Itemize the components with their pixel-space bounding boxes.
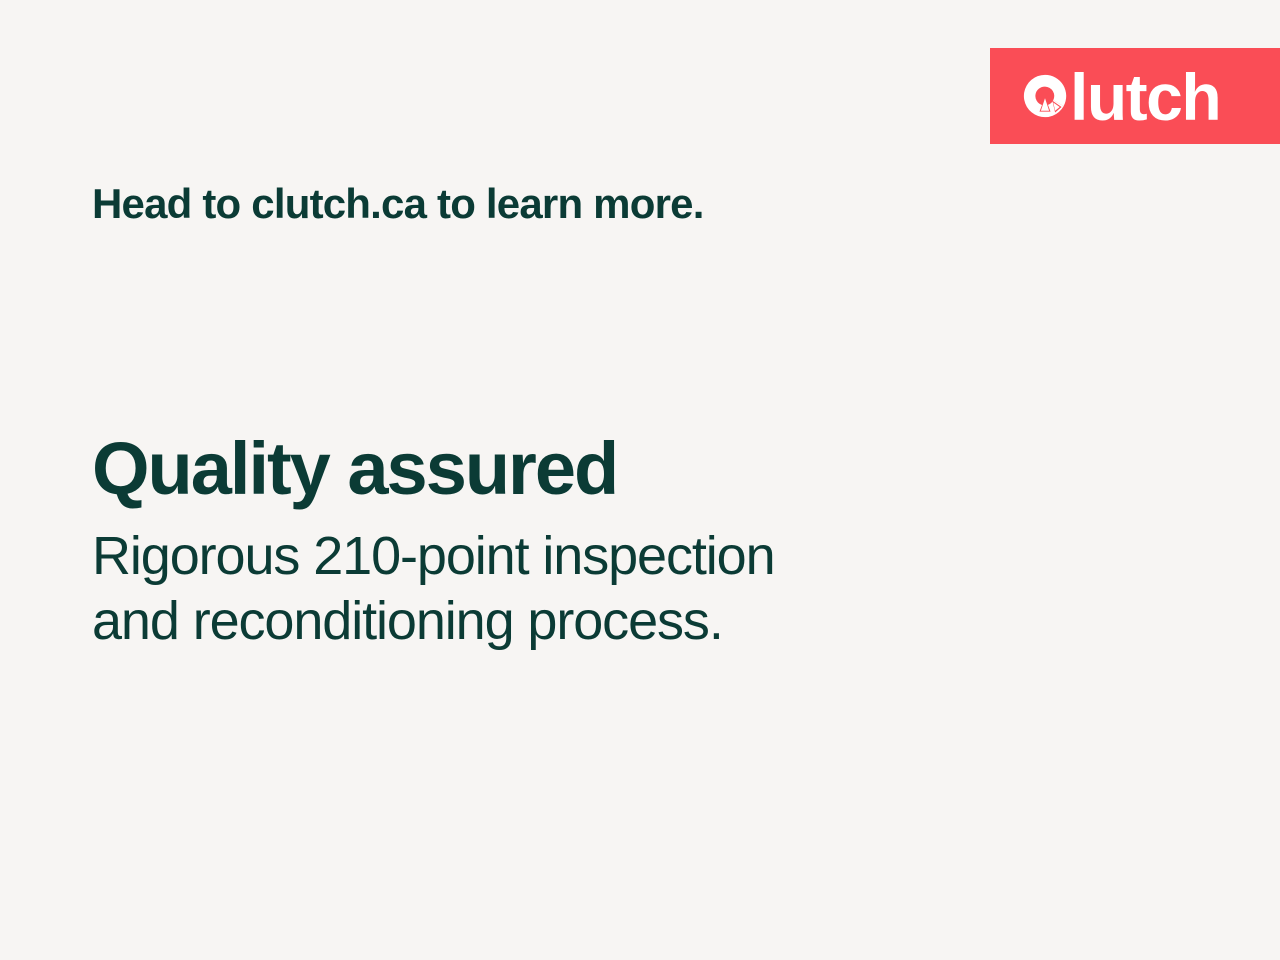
clutch-wordmark-text: lutch <box>1070 64 1220 130</box>
subheadline: Rigorous 210-point inspection and recond… <box>92 524 952 654</box>
clutch-c-wheel-icon <box>1022 73 1068 119</box>
kicker-text: Head to clutch.ca to learn more. <box>92 180 704 228</box>
subheadline-line-2: and reconditioning process. <box>92 589 952 654</box>
subheadline-line-1: Rigorous 210-point inspection <box>92 524 952 589</box>
clutch-wordmark: lutch <box>1022 48 1220 144</box>
brand-banner: lutch <box>990 48 1280 144</box>
headline: Quality assured <box>92 432 1092 506</box>
promo-slide: lutch Head to clutch.ca to learn more. Q… <box>0 0 1280 960</box>
message-block: Quality assured Rigorous 210-point inspe… <box>92 432 1092 654</box>
